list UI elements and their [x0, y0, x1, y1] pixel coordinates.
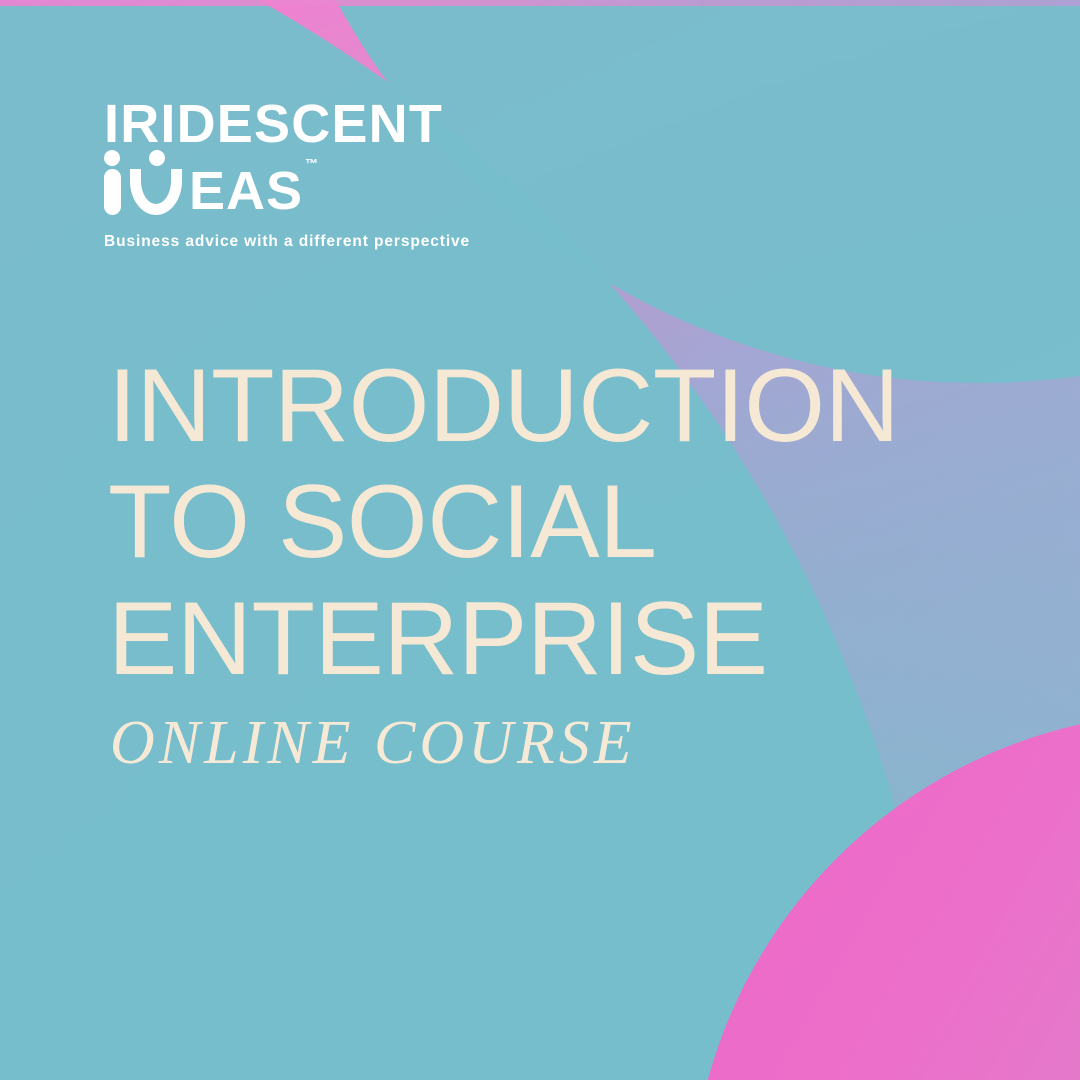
- page-subtitle: ONLINE COURSE: [110, 708, 636, 779]
- logo-smile-rotated-d-glyph-icon: [130, 169, 182, 215]
- brand-tagline: Business advice with a different perspec…: [104, 233, 470, 251]
- brand-name-line-2: EAS ™: [104, 155, 470, 215]
- promo-poster: IRIDESCENT EAS ™ Business advice with a …: [0, 0, 1080, 1080]
- logo-eye-left-i-glyph-icon: [104, 169, 121, 215]
- page-title-line-2: TO SOCIAL: [108, 464, 899, 580]
- page-title-line-3: ENTERPRISE: [108, 581, 899, 697]
- brand-name-line-1: IRIDESCENT: [104, 98, 470, 151]
- poster-content: IRIDESCENT EAS ™ Business advice with a …: [0, 0, 1080, 1080]
- page-title-line-1: INTRODUCTION: [108, 348, 899, 464]
- page-title: INTRODUCTION TO SOCIAL ENTERPRISE: [108, 348, 899, 697]
- trademark-icon: ™: [305, 157, 318, 170]
- brand-logo: IRIDESCENT EAS ™ Business advice with a …: [104, 98, 470, 251]
- brand-name-line-2-letters: EAS: [189, 168, 303, 214]
